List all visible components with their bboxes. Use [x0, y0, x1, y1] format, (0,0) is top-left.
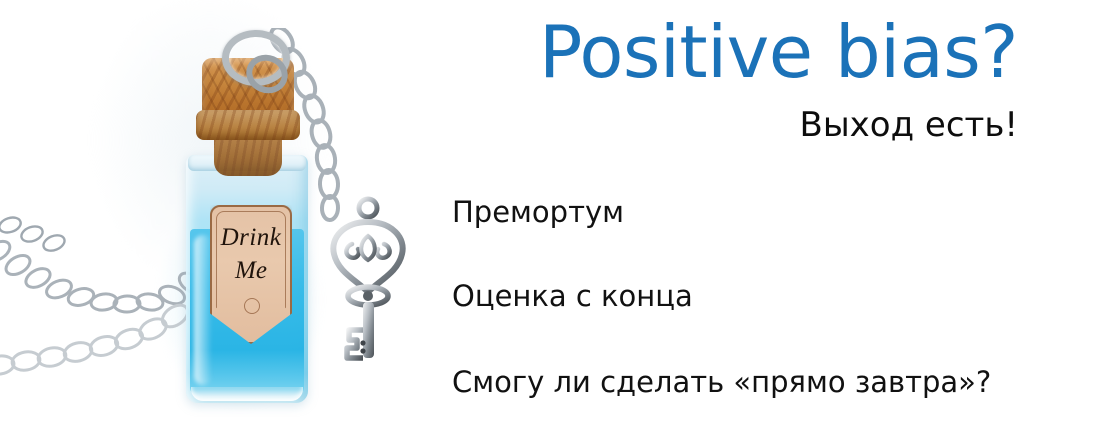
label-line-1: Drink — [212, 225, 290, 250]
bottle-highlight — [194, 235, 212, 385]
page-title: Positive bias? — [539, 16, 1018, 88]
label-text: Drink Me — [212, 225, 290, 283]
list-item: Премортум — [452, 198, 624, 227]
product-photo: Drink Me — [0, 0, 420, 426]
list-item: Оценка с конца — [452, 282, 693, 311]
product-photo-canvas: Drink Me — [0, 0, 420, 426]
page-subtitle: Выход есть! — [800, 108, 1019, 142]
label-ornament-circle — [244, 298, 260, 314]
skeleton-key-icon — [322, 196, 414, 366]
list-item: Смогу ли сделать «прямо завтра»? — [452, 368, 991, 397]
text-content: Positive bias? Выход есть! Премортум Оце… — [420, 0, 1094, 426]
slide-root: Drink Me — [0, 0, 1094, 426]
cork-lip — [196, 110, 300, 140]
label-line-2: Me — [212, 258, 290, 283]
bottle-base — [191, 387, 303, 401]
